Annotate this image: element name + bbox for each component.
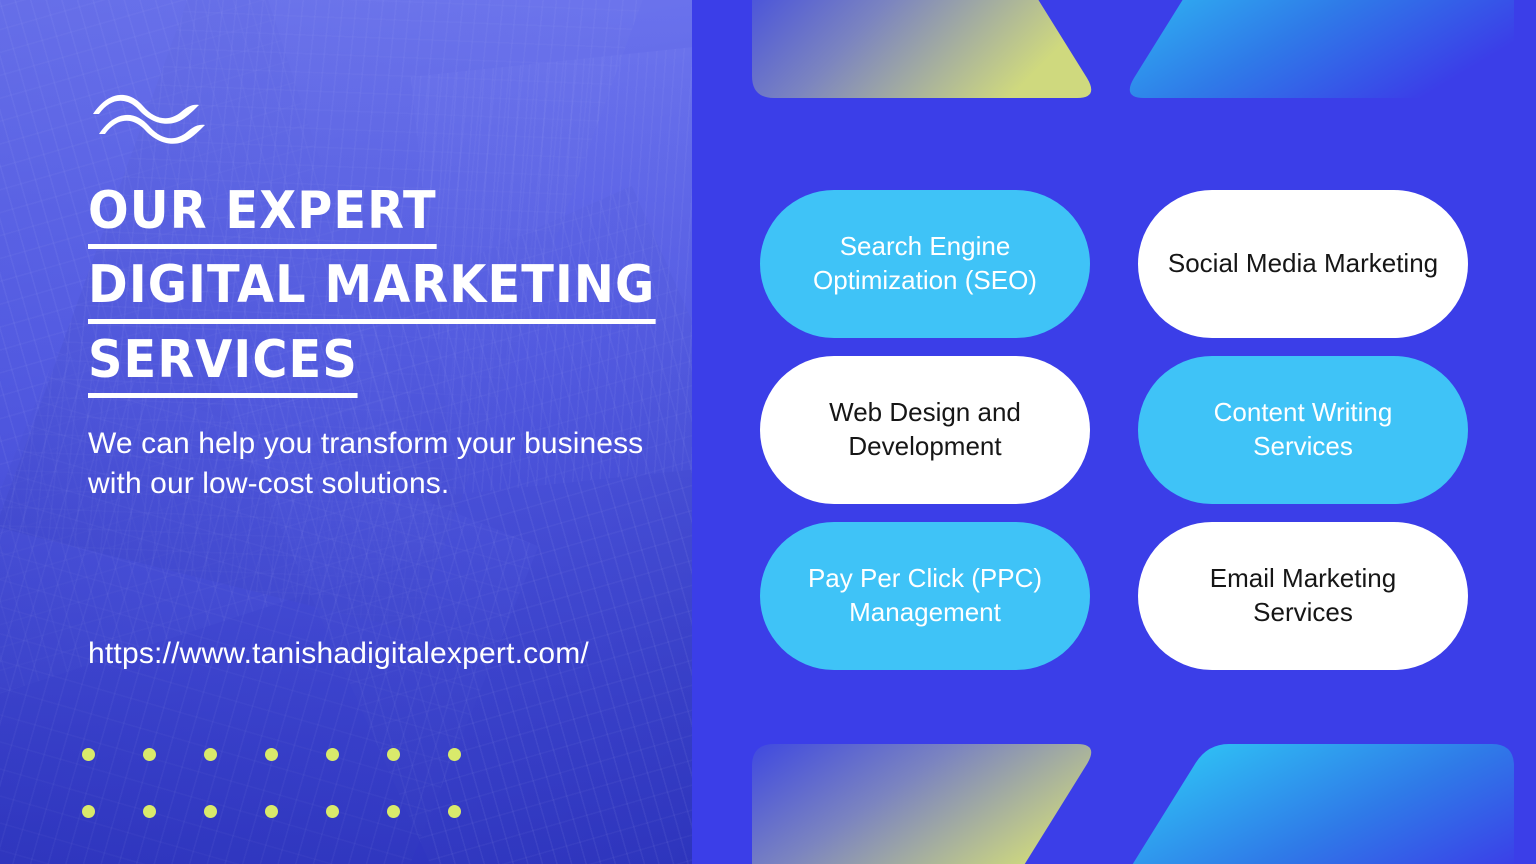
website-url-link[interactable]: https://www.tanishadigitalexpert.com/	[88, 637, 589, 671]
service-pill-email-marketing[interactable]: Email Marketing Services	[1138, 522, 1468, 670]
dot	[265, 805, 278, 818]
dot	[143, 748, 156, 761]
service-pill-content-writing[interactable]: Content Writing Services	[1138, 356, 1468, 504]
dot	[82, 748, 95, 761]
dot-grid-decoration	[82, 748, 509, 862]
service-pill-seo[interactable]: Search Engine Optimization (SEO)	[760, 190, 1090, 338]
dot	[326, 805, 339, 818]
left-panel-content: OUR EXPERT DIGITAL MARKETING SERVICES We…	[0, 0, 692, 864]
hero-subtitle: We can help you transform your business …	[88, 424, 688, 504]
bottom-trapezoid-decorations	[692, 744, 1536, 864]
service-pill-web-design[interactable]: Web Design and Development	[760, 356, 1090, 504]
page-title: OUR EXPERT DIGITAL MARKETING SERVICES	[88, 186, 688, 409]
service-pill-social-media[interactable]: Social Media Marketing	[1138, 190, 1468, 338]
dot	[204, 805, 217, 818]
dot	[448, 805, 461, 818]
dot	[143, 805, 156, 818]
wave-logo-icon	[89, 92, 211, 154]
marketing-poster: OUR EXPERT DIGITAL MARKETING SERVICES We…	[0, 0, 1536, 864]
left-hero-panel: OUR EXPERT DIGITAL MARKETING SERVICES We…	[0, 0, 692, 864]
dot	[387, 748, 400, 761]
headline-line-2: DIGITAL MARKETING	[88, 260, 655, 323]
services-list: Search Engine Optimization (SEO) Social …	[760, 190, 1468, 670]
dot	[204, 748, 217, 761]
dot	[326, 748, 339, 761]
headline-line-3: SERVICES	[88, 335, 358, 398]
headline-line-1: OUR EXPERT	[88, 186, 437, 249]
dot	[448, 748, 461, 761]
service-pill-ppc[interactable]: Pay Per Click (PPC) Management	[760, 522, 1090, 670]
services-panel: Search Engine Optimization (SEO) Social …	[692, 0, 1536, 864]
dot	[265, 748, 278, 761]
dot	[387, 805, 400, 818]
dot	[82, 805, 95, 818]
top-trapezoid-decorations	[692, 0, 1536, 120]
